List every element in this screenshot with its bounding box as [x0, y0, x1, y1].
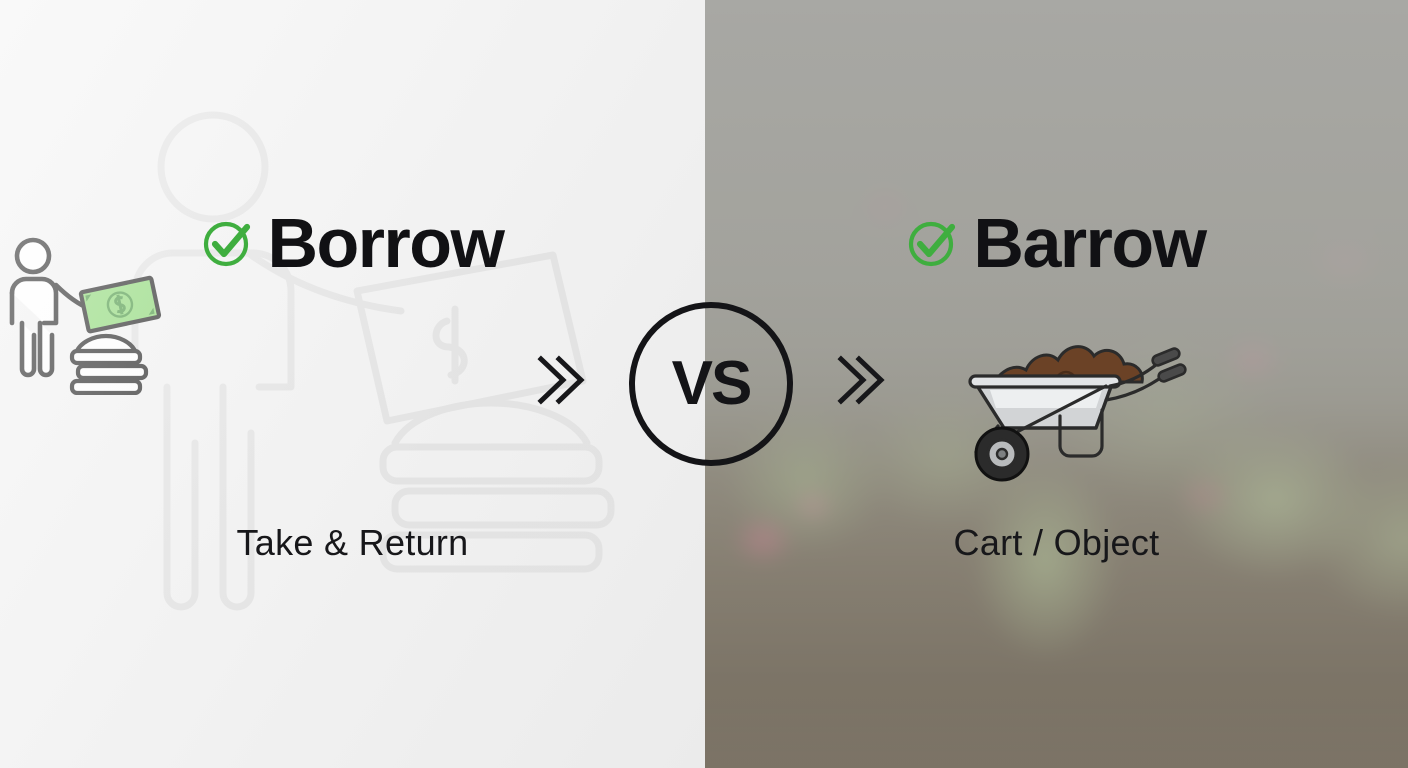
right-title: Barrow: [973, 208, 1205, 278]
right-content-column: Barrow Cart / Object: [705, 0, 1408, 768]
double-chevron-right-icon-right: [833, 345, 885, 415]
vs-circle-badge: VS: [629, 302, 793, 466]
left-content-column: Borrow Take & Return: [0, 0, 705, 768]
left-title-row: Borrow: [202, 208, 504, 278]
left-title: Borrow: [268, 208, 504, 278]
right-caption: Cart / Object: [954, 522, 1160, 564]
left-caption: Take & Return: [236, 522, 468, 564]
green-check-circle-icon: [202, 217, 254, 269]
right-title-row: Barrow: [907, 208, 1205, 278]
green-check-circle-icon: [907, 217, 959, 269]
comparison-graphic: Borrow Take & Return Barrow Cart / Objec…: [0, 0, 1408, 768]
double-chevron-right-icon-left: [533, 345, 585, 415]
vs-label: VS: [672, 353, 751, 415]
